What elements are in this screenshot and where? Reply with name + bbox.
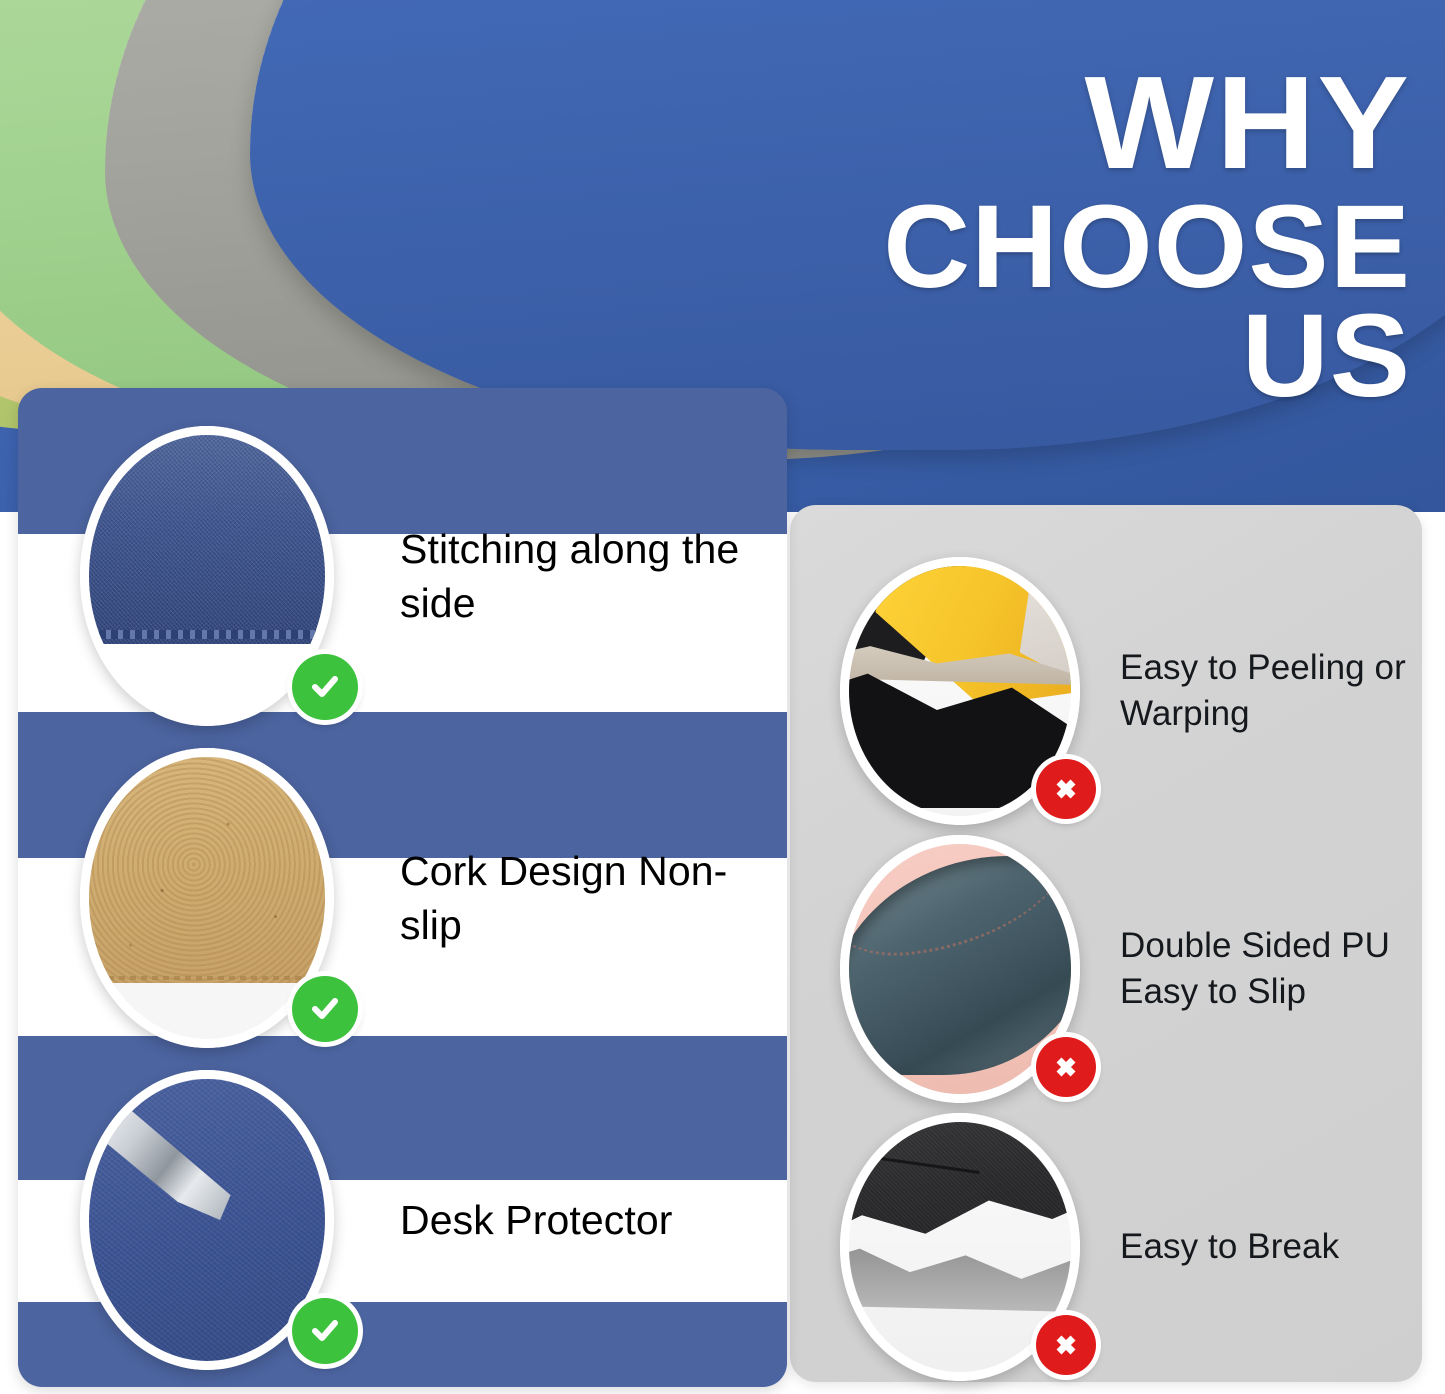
pros-item-stitching: Stitching along the side: [18, 426, 787, 726]
pros-card: Stitching along the side Cork Design Non…: [18, 388, 787, 1387]
check-icon: [292, 654, 358, 720]
cons-item-label: Easy to Peeling or Warping: [1120, 645, 1420, 737]
blade-on-blue-leather-swatch: [80, 1070, 334, 1370]
infographic-canvas: WHY CHOOSE US Easy to Peeling or Warping: [0, 0, 1445, 1394]
page-title-line-1: WHY: [787, 62, 1411, 185]
cork-backing-swatch: [80, 748, 334, 1048]
peeling-yellow-black-swatch: [840, 557, 1080, 825]
cons-item-label: Double Sided PU Easy to Slip: [1120, 923, 1420, 1015]
check-icon: [292, 976, 358, 1042]
pros-item-cork: Cork Design Non-slip: [18, 748, 787, 1048]
cons-panel: Easy to Peeling or Warping Double Sided …: [790, 505, 1422, 1382]
cons-item-easy-to-break: Easy to Break: [790, 1113, 1422, 1381]
cross-icon: [1036, 1315, 1096, 1375]
page-title: WHY CHOOSE US: [811, 62, 1411, 412]
pros-item-label: Stitching along the side: [400, 522, 770, 630]
cons-item-peeling: Easy to Peeling or Warping: [790, 557, 1422, 825]
blue-stitched-edge-swatch: [80, 426, 334, 726]
page-title-line-2: CHOOSE US: [799, 193, 1411, 412]
cross-icon: [1036, 1037, 1096, 1097]
pros-item-label: Desk Protector: [400, 1193, 770, 1247]
pros-item-label: Cork Design Non-slip: [400, 844, 770, 952]
cons-item-double-sided-pu: Double Sided PU Easy to Slip: [790, 835, 1422, 1103]
check-icon: [292, 1298, 358, 1364]
cons-item-label: Easy to Break: [1120, 1224, 1420, 1270]
cracked-black-material-swatch: [840, 1113, 1080, 1381]
pink-pu-curling-swatch: [840, 835, 1080, 1103]
pros-item-desk-protector: Desk Protector: [18, 1070, 787, 1370]
cross-icon: [1036, 759, 1096, 819]
